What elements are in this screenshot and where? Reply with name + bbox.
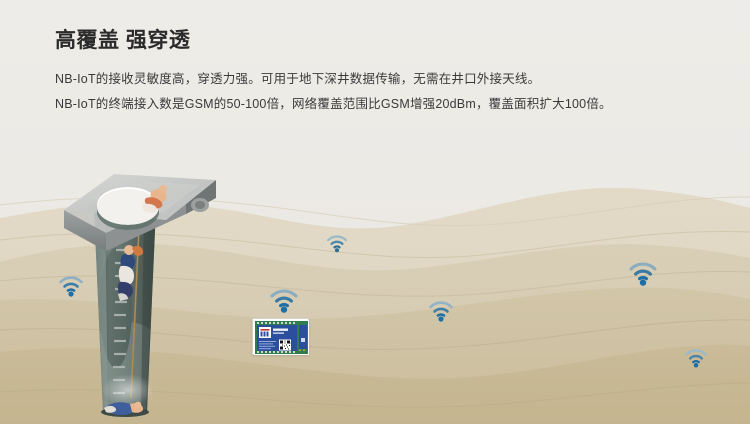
signal-icon-4 bbox=[428, 300, 454, 322]
module-card-graphic bbox=[254, 320, 309, 355]
signal-icon-2 bbox=[326, 234, 348, 253]
signal-icon-6 bbox=[684, 348, 708, 368]
page-title: 高覆盖 强穿透 bbox=[55, 28, 715, 53]
slide-canvas: 高覆盖 强穿透 NB-IoT的接收灵敏度高，穿透力强。可用于地下深井数据传输，无… bbox=[0, 0, 750, 424]
signal-icon-5 bbox=[628, 261, 658, 286]
description-line-2: NB-IoT的终端接入数是GSM的50-100倍，网络覆盖范围比GSM增强20d… bbox=[55, 92, 715, 116]
signal-icon-3 bbox=[269, 288, 299, 313]
nb-iot-module-card bbox=[252, 318, 309, 355]
text-block: 高覆盖 强穿透 NB-IoT的接收灵敏度高，穿透力强。可用于地下深井数据传输，无… bbox=[55, 28, 715, 116]
dust-cloud bbox=[102, 374, 154, 406]
signal-icon-1 bbox=[58, 275, 84, 297]
description-line-1: NB-IoT的接收灵敏度高，穿透力强。可用于地下深井数据传输，无需在井口外接天线… bbox=[55, 67, 715, 91]
